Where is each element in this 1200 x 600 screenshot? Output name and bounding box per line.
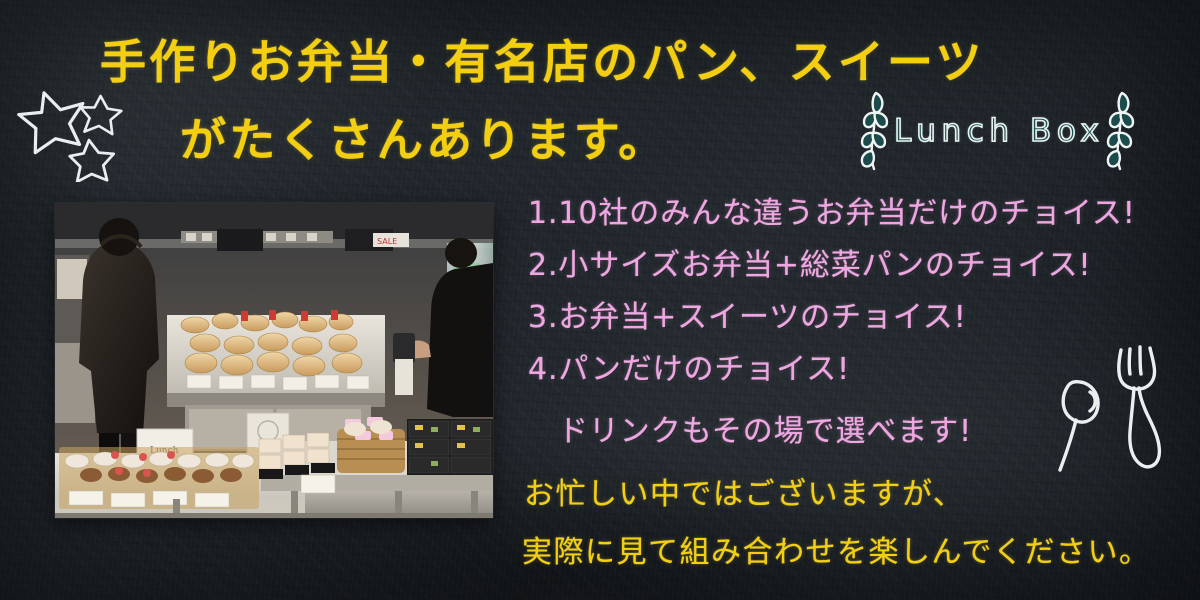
page-title-line-2: がたくさんあります。 bbox=[180, 104, 668, 170]
leaf-sprig-icon-left bbox=[858, 87, 894, 175]
closing-line-2: 実際に見て組み合わせを楽しんでください。 bbox=[522, 524, 1151, 582]
list-item: 3.お弁当+スイーツのチョイス! bbox=[528, 292, 1188, 344]
svg-text:SALE: SALE bbox=[377, 237, 397, 246]
spoon-and-fork-icon bbox=[1050, 338, 1192, 472]
lunch-box-badge: Lunch Box bbox=[858, 88, 1124, 174]
closing-line-1: お忙しい中ではございますが、 bbox=[524, 466, 1151, 524]
drink-note: ドリンクもその場で選べます! bbox=[558, 406, 972, 450]
list-item: 2.小サイズお弁当+総菜パンのチョイス! bbox=[528, 240, 1188, 292]
list-item: 1.10社のみんな違うお弁当だけのチョイス! bbox=[528, 188, 1188, 240]
leaf-sprig-icon-right bbox=[1104, 87, 1140, 175]
lunch-box-label: Lunch Box bbox=[894, 113, 1104, 149]
closing-message: お忙しい中ではございますが、 実際に見て組み合わせを楽しんでください。 bbox=[524, 466, 1151, 582]
shop-display-photo: SALE bbox=[55, 203, 493, 518]
chalkboard-poster: 手作りお弁当・有名店のパン、スイーツ がたくさんあります。 Lunch Box bbox=[0, 0, 1200, 600]
page-title-line-1: 手作りお弁当・有名店のパン、スイーツ bbox=[100, 26, 985, 92]
stars-icon bbox=[12, 78, 148, 182]
